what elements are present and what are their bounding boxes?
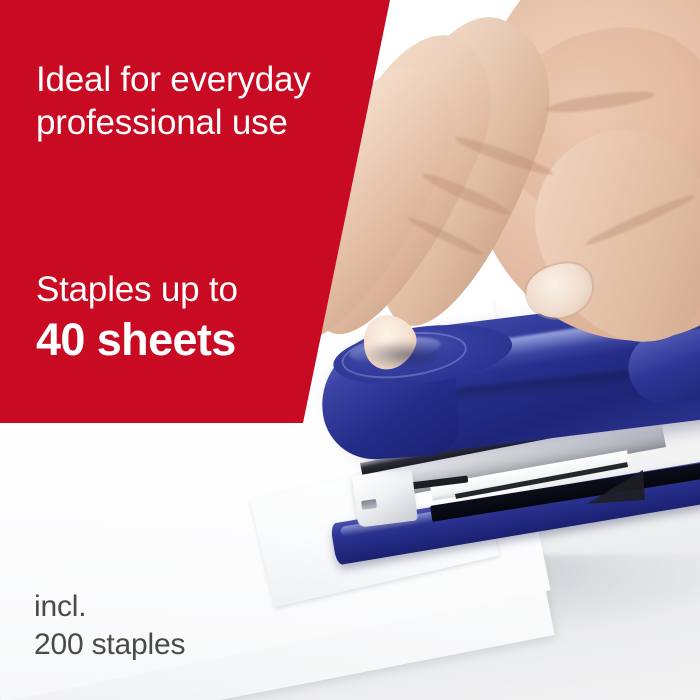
footnote-block: incl. 200 staples xyxy=(34,588,185,664)
headline-block: Ideal for everyday professional use xyxy=(36,58,366,144)
hand-shadow-on-cap xyxy=(360,340,450,370)
footnote-line-2: 200 staples xyxy=(34,626,185,664)
headline-line-1: Ideal for everyday xyxy=(36,58,366,101)
capacity-block: Staples up to 40 sheets xyxy=(36,268,336,367)
capacity-value-text: 40 sheets xyxy=(36,312,336,367)
footnote-line-1: incl. xyxy=(34,588,185,626)
product-feature-image: Ideal for everyday professional use Stap… xyxy=(0,0,700,700)
headline-line-2: professional use xyxy=(36,101,366,144)
capacity-lead-text: Staples up to xyxy=(36,268,336,312)
